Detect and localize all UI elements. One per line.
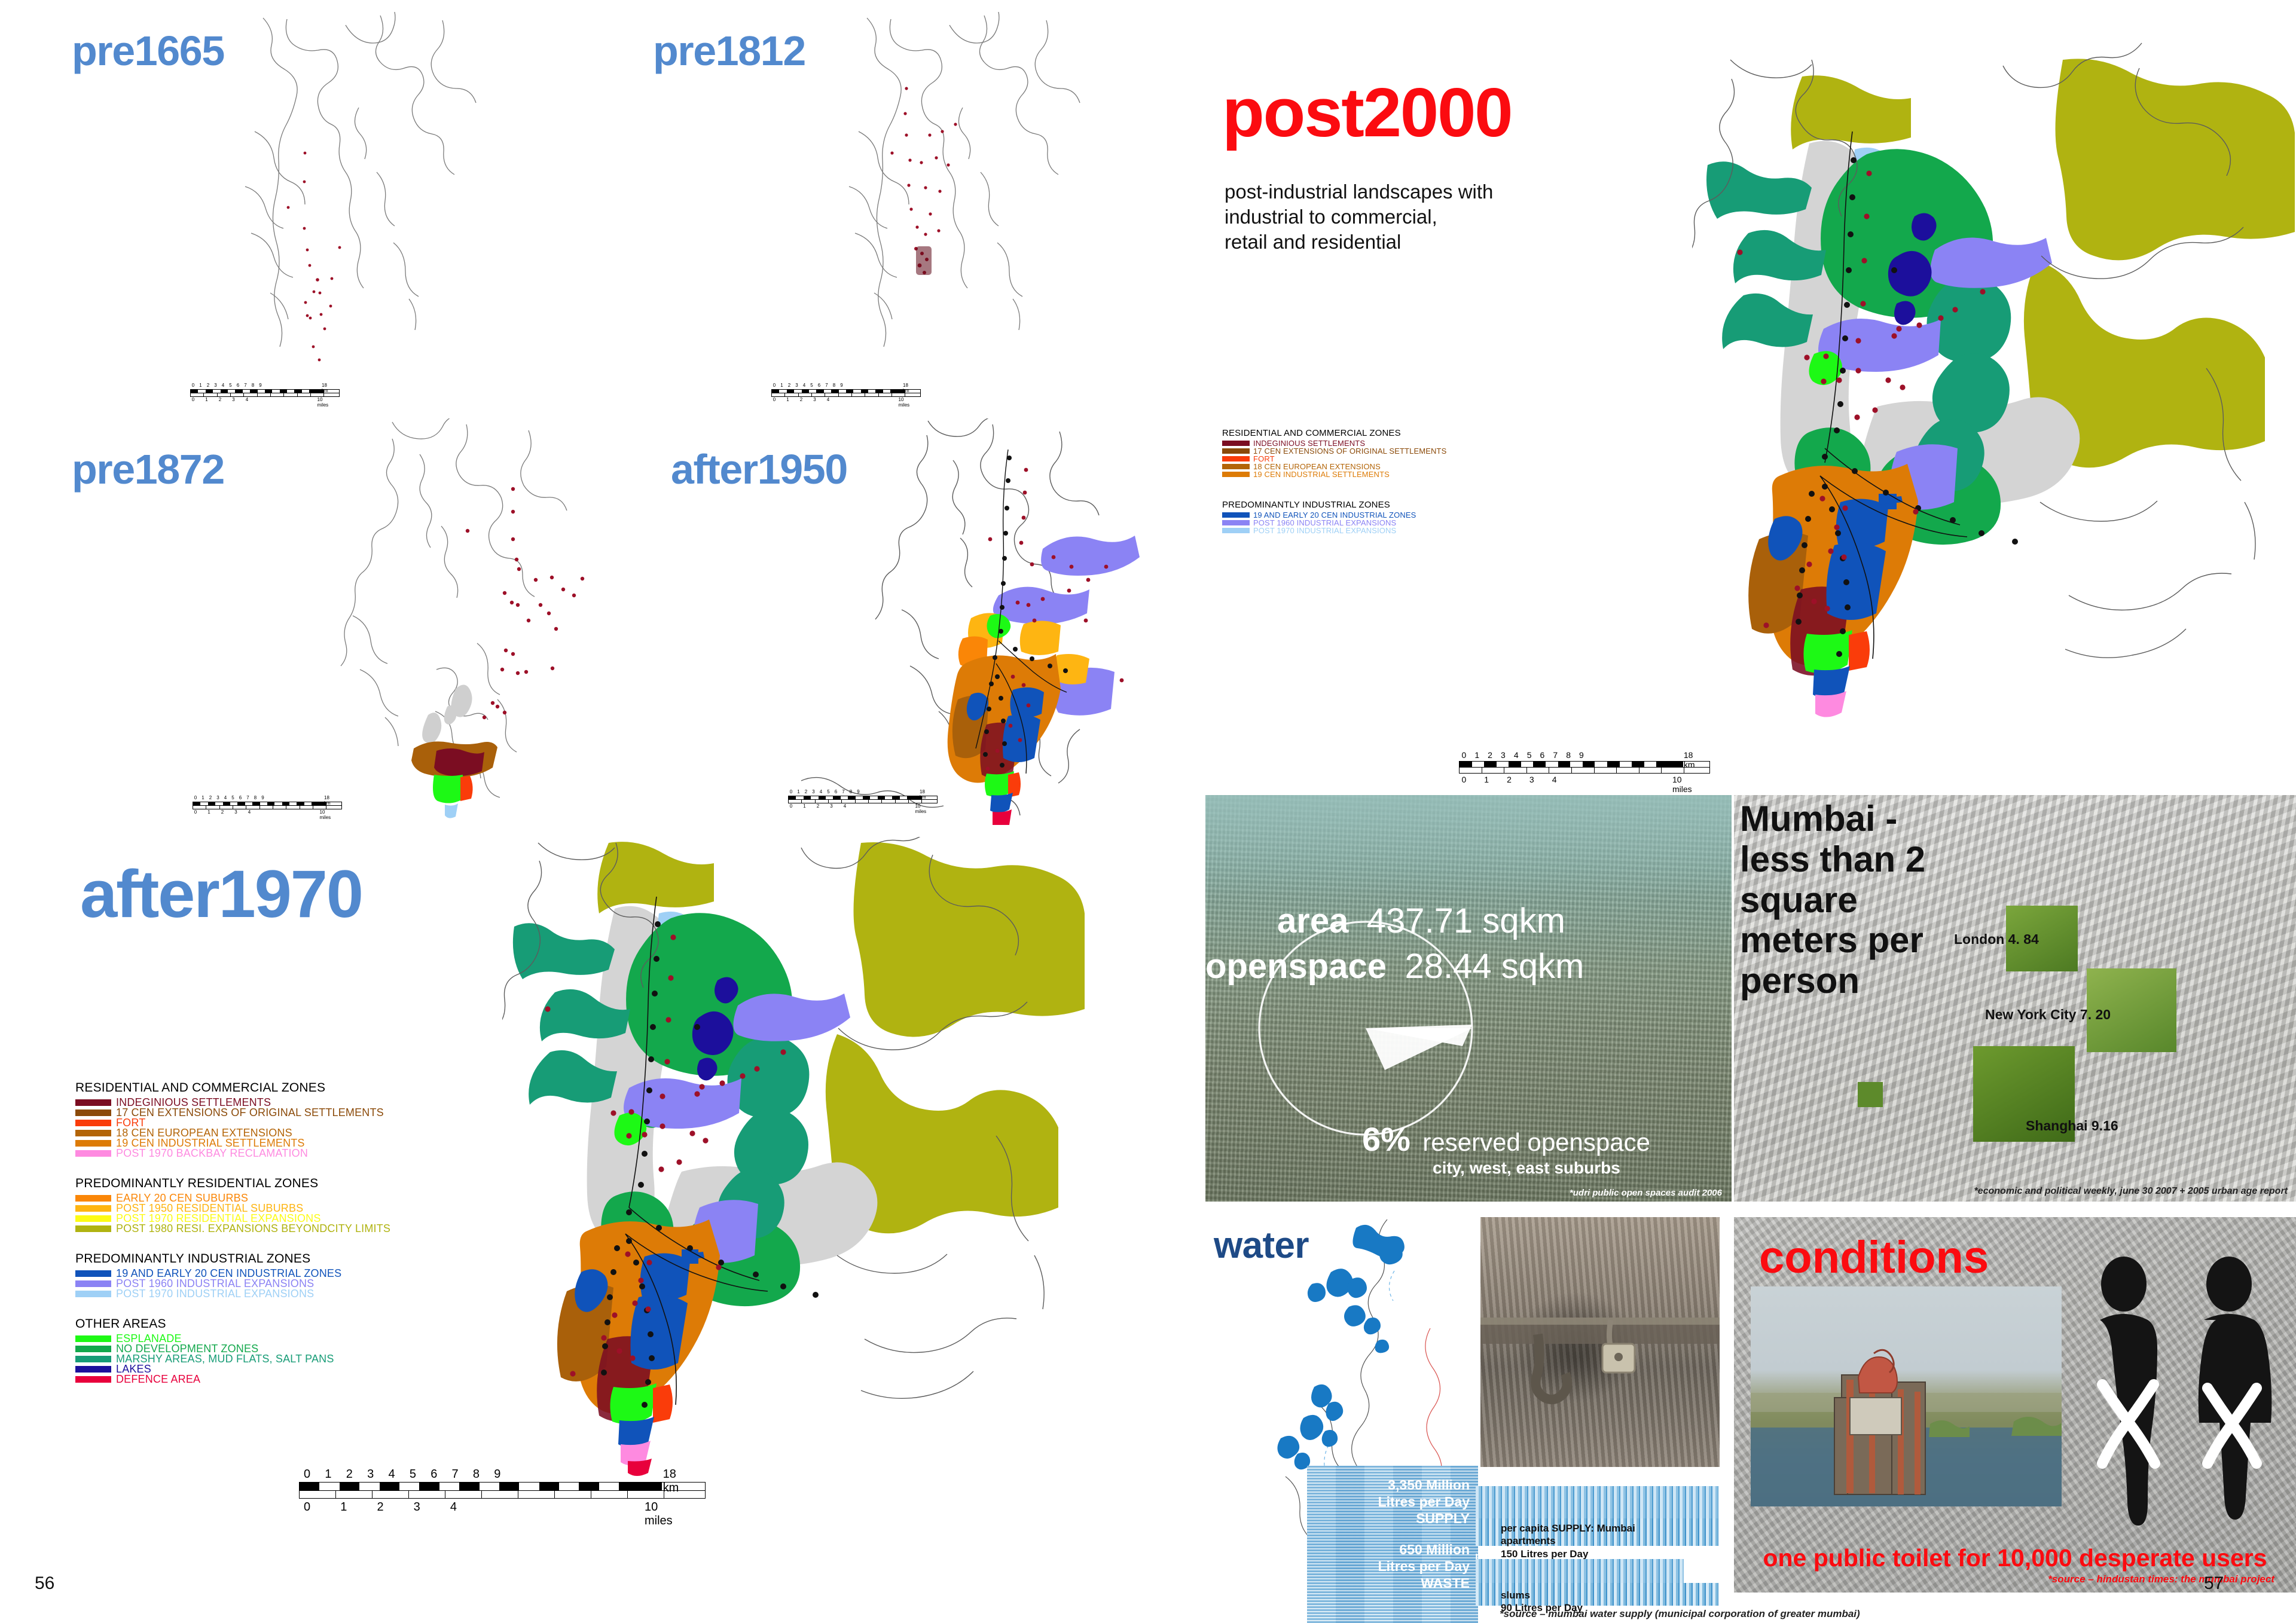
area-openspace-panel: area 437.71 sqkm openspace 28.44 sqkm 6%… bbox=[1205, 795, 1732, 1202]
legend-swatch bbox=[1222, 520, 1250, 525]
scalebar-after1970: 01 23 45 67 89 18 km 01 23 4 10 bbox=[299, 1468, 706, 1515]
green-square-mumbai bbox=[1858, 1082, 1883, 1107]
density-headline-line: person bbox=[1740, 961, 1925, 1001]
map-pre1665 bbox=[179, 12, 514, 383]
legend-heading: RESIDENTIAL AND COMMERCIAL ZONES bbox=[75, 1081, 470, 1095]
legend-swatch bbox=[75, 1150, 111, 1157]
legend-swatch bbox=[75, 1215, 111, 1222]
page-number-right: 57 bbox=[2204, 1573, 2224, 1594]
water-slum-line: slums bbox=[1501, 1589, 1583, 1601]
legend-swatch bbox=[1222, 441, 1250, 446]
conditions-source: *source – hindustan times: the mumbai pr… bbox=[2048, 1573, 2274, 1585]
water-supply-stat: 3,350 Million Litres per Day SUPPLY bbox=[1320, 1477, 1470, 1527]
settlement-dots-pre1812 bbox=[783, 12, 1118, 383]
legend-swatch bbox=[1222, 528, 1250, 533]
density-headline: Mumbai - less than 2 square meters per p… bbox=[1740, 799, 1925, 1001]
conditions-caption: one public toilet for 10,000 desperate u… bbox=[1734, 1544, 2296, 1572]
openspace-row: openspace 28.44 sqkm bbox=[1205, 949, 1732, 984]
zones-after1950 bbox=[789, 418, 1208, 825]
legend-group-industrial: PREDOMINANTLY INDUSTRIAL ZONES 19 AND EA… bbox=[75, 1252, 470, 1299]
legend-group-industrial: PREDOMINANTLY INDUSTRIAL ZONES 19 AND EA… bbox=[1222, 500, 1557, 534]
legend-label: 17 CEN EXTENSIONS OF ORIGINAL SETTLEMENT… bbox=[116, 1107, 384, 1119]
density-headline-line: Mumbai - bbox=[1740, 799, 1925, 839]
openspace-percent-sub: city, west, east suburbs bbox=[1433, 1160, 1620, 1176]
legend-swatch bbox=[75, 1120, 111, 1126]
map-title-pre1872: pre1872 bbox=[72, 448, 224, 490]
post2000-subtitle-line: retail and residential bbox=[1225, 230, 1493, 255]
density-headline-line: less than 2 bbox=[1740, 839, 1925, 880]
legend-swatch bbox=[75, 1099, 111, 1106]
openspace-label: openspace bbox=[1205, 947, 1387, 986]
legend-heading: PREDOMINANTLY INDUSTRIAL ZONES bbox=[1222, 500, 1557, 510]
legend-item: POST 1980 RESI. EXPANSIONS BEYONDCITY LI… bbox=[75, 1224, 470, 1234]
pipe-padlock-photo bbox=[1480, 1217, 1720, 1467]
scalebar-pre1872: 01 23 45 67 89 18 km 01 23 4 10 bbox=[193, 795, 342, 816]
post2000-subtitle: post-industrial landscapes with industri… bbox=[1225, 179, 1493, 255]
area-label: area bbox=[1277, 901, 1348, 940]
legend-item: 19 CEN INDUSTRIAL SETTLEMENTS bbox=[1222, 470, 1557, 478]
map-after1950 bbox=[789, 418, 1208, 825]
legend-label: 19 CEN INDUSTRIAL SETTLEMENTS bbox=[1253, 470, 1390, 479]
map-title-pre1665: pre1665 bbox=[72, 30, 224, 72]
legend-label: 17 CEN EXTENSIONS OF ORIGINAL SETTLEMENT… bbox=[1253, 447, 1446, 456]
legend-label: POST 1970 BACKBAY RECLAMATION bbox=[116, 1147, 308, 1160]
legend-swatch bbox=[75, 1225, 111, 1232]
openspace-percent: 6% bbox=[1362, 1120, 1410, 1158]
legend-swatch bbox=[1222, 456, 1250, 461]
legend-heading: PREDOMINANTLY INDUSTRIAL ZONES bbox=[75, 1252, 470, 1266]
legend-swatch bbox=[75, 1346, 111, 1352]
legend-item: POST 1970 BACKBAY RECLAMATION bbox=[75, 1148, 470, 1159]
water-waste-stat: 650 Million Litres per Day WASTE bbox=[1315, 1541, 1470, 1591]
legend-swatch bbox=[1222, 472, 1250, 477]
legend-post2000: RESIDENTIAL AND COMMERCIAL ZONES INDEGIN… bbox=[1222, 428, 1557, 548]
water-supply-value: 3,350 Million bbox=[1320, 1477, 1470, 1493]
page-number-left: 56 bbox=[35, 1573, 54, 1594]
percent-row: 6% reserved openspace bbox=[1362, 1123, 1650, 1156]
legend-swatch bbox=[75, 1205, 111, 1212]
scalebar-pre1665: 01 23 45 67 89 18 km 01 23 4 10 bbox=[190, 383, 340, 404]
area-row: area 437.71 sqkm bbox=[1277, 904, 1720, 939]
padlock-icon bbox=[1480, 1217, 1720, 1467]
comparison-label-shanghai: Shanghai 9.16 bbox=[2026, 1118, 2118, 1134]
openspace-value: 28.44 sqkm bbox=[1405, 947, 1584, 986]
map-title-after1970: after1970 bbox=[80, 861, 362, 928]
urbanfabric-pre1872 bbox=[287, 418, 658, 825]
toilet-shack-photo bbox=[1751, 1286, 2062, 1506]
post2000-subtitle-line: industrial to commercial, bbox=[1225, 204, 1493, 230]
water-supply-block: 3,350 Million Litres per Day SUPPLY 650 … bbox=[1307, 1466, 1478, 1623]
legend-swatch bbox=[75, 1195, 111, 1202]
openspace-source: *udri public open spaces audit 2006 bbox=[1570, 1188, 1722, 1198]
scalebar-after1950: 01 23 45 67 89 18 km 01 23 4 10 bbox=[788, 789, 938, 810]
legend-label: POST 1980 RESI. EXPANSIONS BEYONDCITY LI… bbox=[116, 1222, 390, 1235]
post2000-title: post2000 bbox=[1222, 78, 1512, 147]
poster-page: pre1665 01 23 45 67 89 18 km 01 bbox=[0, 0, 2296, 1623]
openspace-percent-label: reserved openspace bbox=[1422, 1128, 1650, 1156]
zones-post2000 bbox=[1692, 24, 2296, 777]
toilet-pictograms bbox=[2069, 1253, 2284, 1552]
comparison-label-london: London 4. 84 bbox=[1954, 931, 2039, 947]
legend-swatch bbox=[1222, 464, 1250, 469]
water-waste-value: 650 Million bbox=[1315, 1541, 1470, 1558]
water-percapita-line: per capita SUPPLY: Mumbai bbox=[1501, 1522, 1635, 1535]
density-headline-line: square bbox=[1740, 880, 1925, 921]
scalebar-pre1812: 01 23 45 67 89 18 km 01 23 4 10 bbox=[771, 383, 921, 404]
settlement-dots-pre1665 bbox=[179, 12, 514, 383]
density-panel: Mumbai - less than 2 square meters per p… bbox=[1734, 795, 2296, 1202]
scalebar-post2000: 01 23 45 67 89 18 km 01 23 4 10 bbox=[1459, 750, 1710, 785]
conditions-panel: conditions bbox=[1734, 1217, 2296, 1593]
water-supply-label: SUPPLY bbox=[1320, 1510, 1470, 1527]
legend-swatch bbox=[1222, 512, 1250, 518]
legend-swatch bbox=[75, 1376, 111, 1383]
legend-item: POST 1970 INDUSTRIAL EXPANSIONS bbox=[75, 1289, 470, 1299]
legend-after1970: RESIDENTIAL AND COMMERCIAL ZONES INDEGIN… bbox=[75, 1081, 470, 1402]
map-after1970 bbox=[502, 837, 1088, 1477]
map-pre1812 bbox=[783, 12, 1118, 383]
legend-heading: RESIDENTIAL AND COMMERCIAL ZONES bbox=[1222, 428, 1557, 438]
legend-label: DEFENCE AREA bbox=[116, 1373, 200, 1386]
legend-swatch bbox=[75, 1335, 111, 1342]
water-waste-unit: Litres per Day bbox=[1315, 1558, 1470, 1575]
legend-swatch bbox=[75, 1109, 111, 1116]
comparison-label-nyc: New York City 7. 20 bbox=[1985, 1007, 2111, 1023]
legend-heading: PREDOMINANTLY RESIDENTIAL ZONES bbox=[75, 1176, 470, 1191]
water-percapita-line: 150 Litres per Day bbox=[1501, 1548, 1635, 1560]
legend-label: POST 1970 INDUSTRIAL EXPANSIONS bbox=[1253, 526, 1396, 535]
legend-item: POST 1970 INDUSTRIAL EXPANSIONS bbox=[1222, 527, 1557, 534]
legend-swatch bbox=[75, 1270, 111, 1277]
water-source: *source – mumbai water supply (municipal… bbox=[1500, 1608, 1860, 1620]
legend-group-residential: PREDOMINANTLY RESIDENTIAL ZONES EARLY 20… bbox=[75, 1176, 470, 1234]
water-waste-label: WASTE bbox=[1315, 1575, 1470, 1591]
zones-after1970 bbox=[502, 837, 1088, 1477]
density-source: *economic and political weekly, june 30 … bbox=[1974, 1186, 2288, 1197]
legend-group-residential-commercial: RESIDENTIAL AND COMMERCIAL ZONES INDEGIN… bbox=[1222, 428, 1557, 478]
legend-swatch bbox=[75, 1366, 111, 1373]
water-supply-unit: Litres per Day bbox=[1320, 1493, 1470, 1510]
legend-swatch bbox=[75, 1140, 111, 1147]
water-percapita-labels: per capita SUPPLY: Mumbai apartments 150… bbox=[1501, 1522, 1635, 1560]
conditions-title: conditions bbox=[1759, 1235, 1989, 1280]
legend-swatch bbox=[1222, 448, 1250, 454]
legend-swatch bbox=[75, 1130, 111, 1136]
legend-group-residential-commercial: RESIDENTIAL AND COMMERCIAL ZONES INDEGIN… bbox=[75, 1081, 470, 1159]
post2000-subtitle-line: post-industrial landscapes with bbox=[1225, 179, 1493, 204]
map-post2000 bbox=[1692, 24, 2296, 777]
legend-swatch bbox=[75, 1280, 111, 1287]
map-title-after1950: after1950 bbox=[671, 448, 847, 490]
legend-swatch bbox=[75, 1356, 111, 1362]
map-title-pre1812: pre1812 bbox=[653, 30, 805, 72]
shack-illustration bbox=[1751, 1286, 2062, 1506]
legend-label: POST 1970 INDUSTRIAL EXPANSIONS bbox=[116, 1288, 314, 1300]
bottle-row-slums-top bbox=[1476, 1559, 1684, 1584]
density-headline-line: meters per bbox=[1740, 920, 1925, 961]
legend-item: DEFENCE AREA bbox=[75, 1374, 470, 1384]
legend-heading: OTHER AREAS bbox=[75, 1317, 470, 1331]
area-value: 437.71 sqkm bbox=[1367, 901, 1565, 940]
map-pre1872 bbox=[287, 418, 658, 825]
legend-swatch bbox=[75, 1291, 111, 1297]
legend-group-other: OTHER AREAS ESPLANADE NO DEVELOPMENT ZON… bbox=[75, 1317, 470, 1384]
water-percapita-line: apartments bbox=[1501, 1535, 1635, 1547]
